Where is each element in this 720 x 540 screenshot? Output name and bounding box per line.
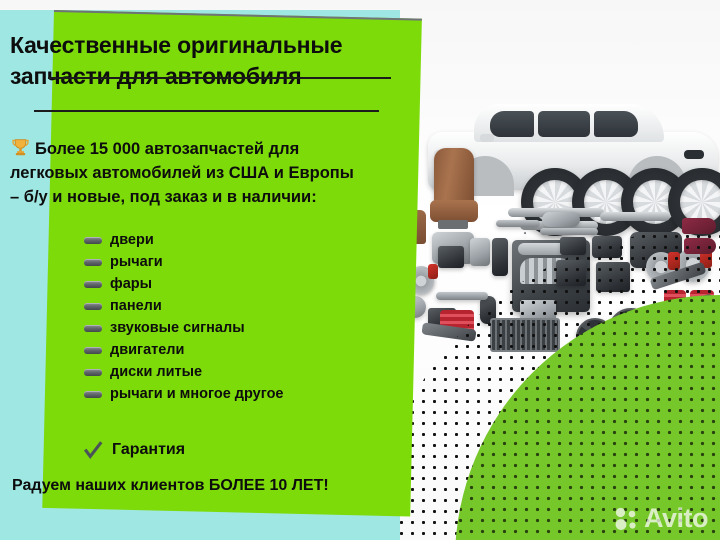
dash-bullet-icon xyxy=(84,369,102,376)
parts-list: двери рычаги фары панели звуковые сигнал… xyxy=(84,229,384,405)
list-item: рычаги и многое другое xyxy=(84,383,384,405)
list-item: фары xyxy=(84,273,384,295)
dash-bullet-icon xyxy=(84,325,102,332)
subheadline-line-1: Более 15 000 автозапчастей для xyxy=(35,140,299,158)
avito-logo-icon xyxy=(613,506,639,532)
tagline: Радуем наших клиентов БОЛЕЕ 10 ЛЕТ! xyxy=(12,477,329,495)
list-item-label: звуковые сигналы xyxy=(110,320,245,336)
dash-bullet-icon xyxy=(84,391,102,398)
headline: Качественные оригинальные запчасти для а… xyxy=(10,30,410,91)
headline-line-1: Качественные оригинальные xyxy=(10,30,410,61)
headline-rule-2 xyxy=(34,110,379,112)
avito-watermark: Avito xyxy=(613,505,708,532)
avito-brand-text: Avito xyxy=(644,505,708,532)
list-item: двери xyxy=(84,229,384,251)
list-item: двигатели xyxy=(84,339,384,361)
dash-bullet-icon xyxy=(84,237,102,244)
guarantee-row: Гарантия xyxy=(82,437,185,463)
list-item-label: двигатели xyxy=(110,342,184,358)
subheadline-line-3: – б/у и новые, под заказ и в наличии: xyxy=(10,188,317,206)
headline-line-2: запчасти для автомобиля xyxy=(10,61,410,92)
list-item-label: панели xyxy=(110,298,162,314)
dash-bullet-icon xyxy=(84,347,102,354)
dash-bullet-icon xyxy=(84,281,102,288)
list-item-label: рычаги и многое другое xyxy=(110,386,284,402)
ad-content: Качественные оригинальные запчасти для а… xyxy=(0,0,430,540)
list-item: рычаги xyxy=(84,251,384,273)
dash-bullet-icon xyxy=(84,303,102,310)
list-item-label: рычаги xyxy=(110,254,163,270)
list-item: звуковые сигналы xyxy=(84,317,384,339)
ad-canvas: Качественные оригинальные запчасти для а… xyxy=(0,0,720,540)
trophy-icon xyxy=(10,137,31,158)
list-item: панели xyxy=(84,295,384,317)
guarantee-label: Гарантия xyxy=(112,441,185,458)
subheadline: Более 15 000 автозапчастей для легковых … xyxy=(10,137,418,210)
list-item-label: двери xyxy=(110,232,154,248)
dash-bullet-icon xyxy=(84,259,102,266)
list-item: диски литые xyxy=(84,361,384,383)
list-item-label: фары xyxy=(110,276,152,292)
subheadline-line-2: легковых автомобилей из США и Европы xyxy=(10,164,354,182)
check-mark-icon xyxy=(82,439,104,461)
headline-rule-1 xyxy=(48,77,391,79)
list-item-label: диски литые xyxy=(110,364,202,380)
